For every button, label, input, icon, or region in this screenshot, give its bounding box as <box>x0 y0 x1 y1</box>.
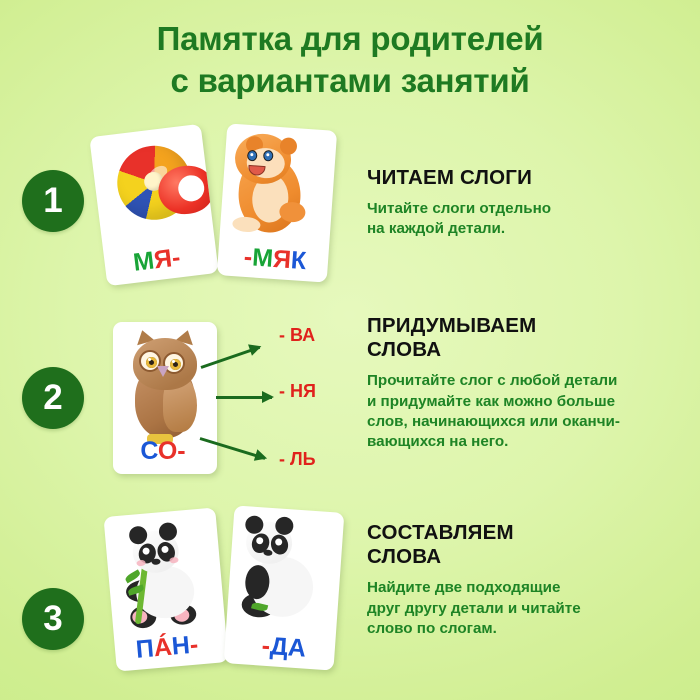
infographic-page: Памятка для родителей с вариантами занят… <box>0 0 700 700</box>
step-1-text: ЧИТАЕМ СЛОГИ Читайте слоги отдельно на к… <box>367 166 667 240</box>
card-syllable: -ДА <box>228 631 339 664</box>
arrow-label-va: - ВА <box>279 325 315 346</box>
card-syllable: -МЯК <box>219 243 330 276</box>
card-syllable: МЯ- <box>100 241 214 279</box>
step-badge-3: 3 <box>22 588 84 650</box>
title-line-1: Памятка для родителей <box>157 20 544 57</box>
step-3-text: СОСТАВЛЯЕМ СЛОВА Найдите две подходящие … <box>367 521 667 639</box>
title-line-2: с вариантами занятий <box>0 60 700 102</box>
card-owl-so[interactable]: СО- <box>113 322 217 474</box>
step-2-heading: ПРИДУМЫВАЕМ СЛОВА <box>367 314 697 362</box>
step-3-body: Найдите две подходящие друг другу детали… <box>367 578 667 639</box>
card-panda-pan[interactable]: ПÁН- <box>103 507 228 671</box>
step-2-body: Прочитайте слог с любой детали и придума… <box>367 371 697 452</box>
step-badge-1: 1 <box>22 170 84 232</box>
arrow-label-l: - ЛЬ <box>279 449 316 470</box>
card-hamster-myak[interactable]: -МЯК <box>217 123 337 282</box>
step-2-text: ПРИДУМЫВАЕМ СЛОВА Прочитайте слог с любо… <box>367 314 697 452</box>
step-3-heading: СОСТАВЛЯЕМ СЛОВА <box>367 521 667 569</box>
step-badge-2: 2 <box>22 367 84 429</box>
arrow-label-nya: - НЯ <box>279 381 316 402</box>
card-ball-mya[interactable]: МЯ- <box>89 124 218 287</box>
step-1-heading: ЧИТАЕМ СЛОГИ <box>367 166 667 190</box>
arrow-icon-2 <box>216 396 272 399</box>
card-syllable: СО- <box>113 439 215 464</box>
card-panda-da[interactable]: -ДА <box>224 505 345 670</box>
step-1-body: Читайте слоги отдельно на каждой детали. <box>367 199 667 239</box>
card-syllable: ПÁН- <box>110 630 224 665</box>
page-title: Памятка для родителей с вариантами занят… <box>0 18 700 102</box>
